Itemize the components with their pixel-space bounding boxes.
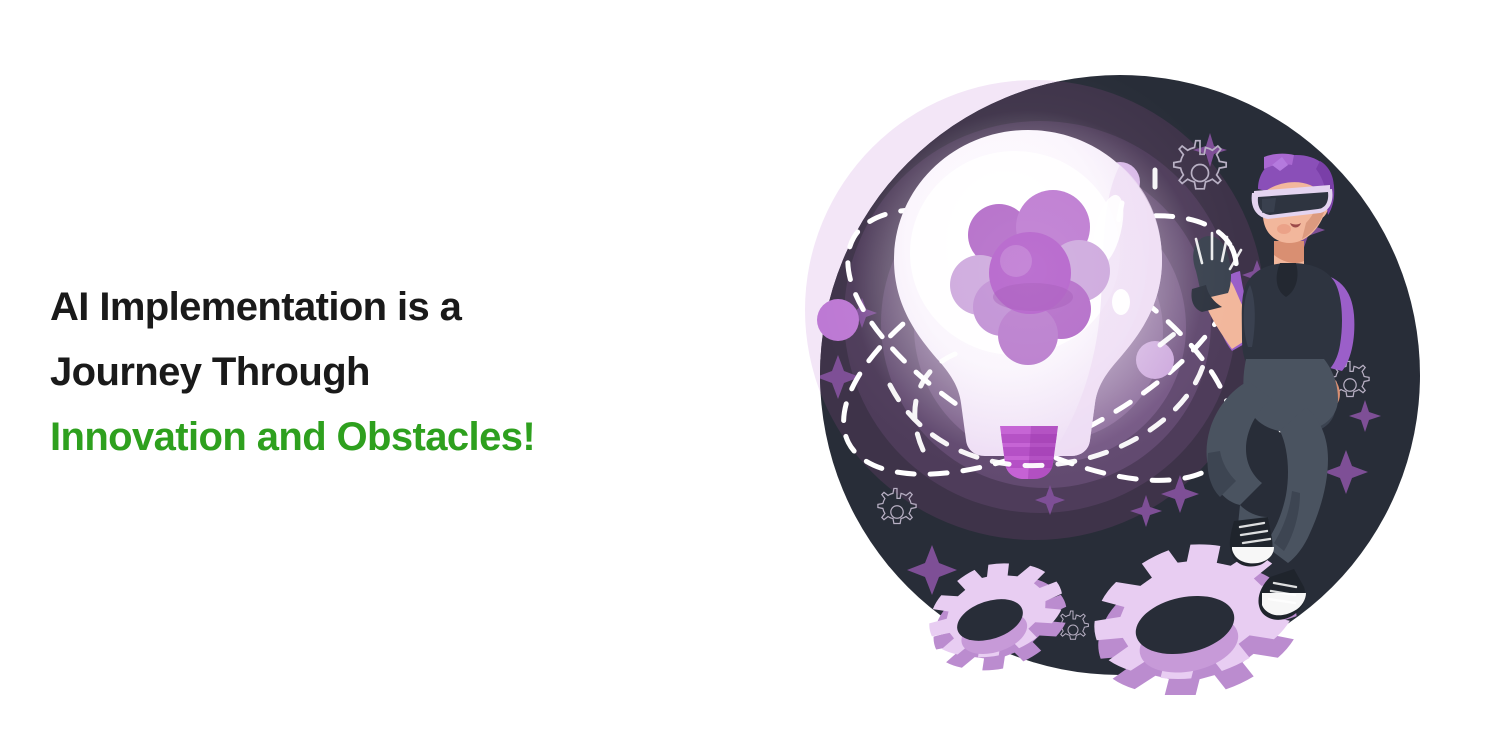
bulb-light-bleed <box>813 55 1243 485</box>
headline-line-3-accent: Innovation and Obstacles! <box>50 405 750 470</box>
headline-block: AI Implementation is a Journey Through I… <box>50 275 750 470</box>
ai-innovation-illustration <box>790 55 1440 695</box>
page-title: AI Implementation is a Journey Through I… <box>50 275 750 470</box>
person-shoe-left <box>1230 517 1274 567</box>
headline-line-2: Journey Through <box>50 340 750 405</box>
headline-line-1: AI Implementation is a <box>50 275 750 340</box>
hero-banner: AI Implementation is a Journey Through I… <box>0 0 1500 750</box>
person-cheek <box>1277 224 1291 234</box>
